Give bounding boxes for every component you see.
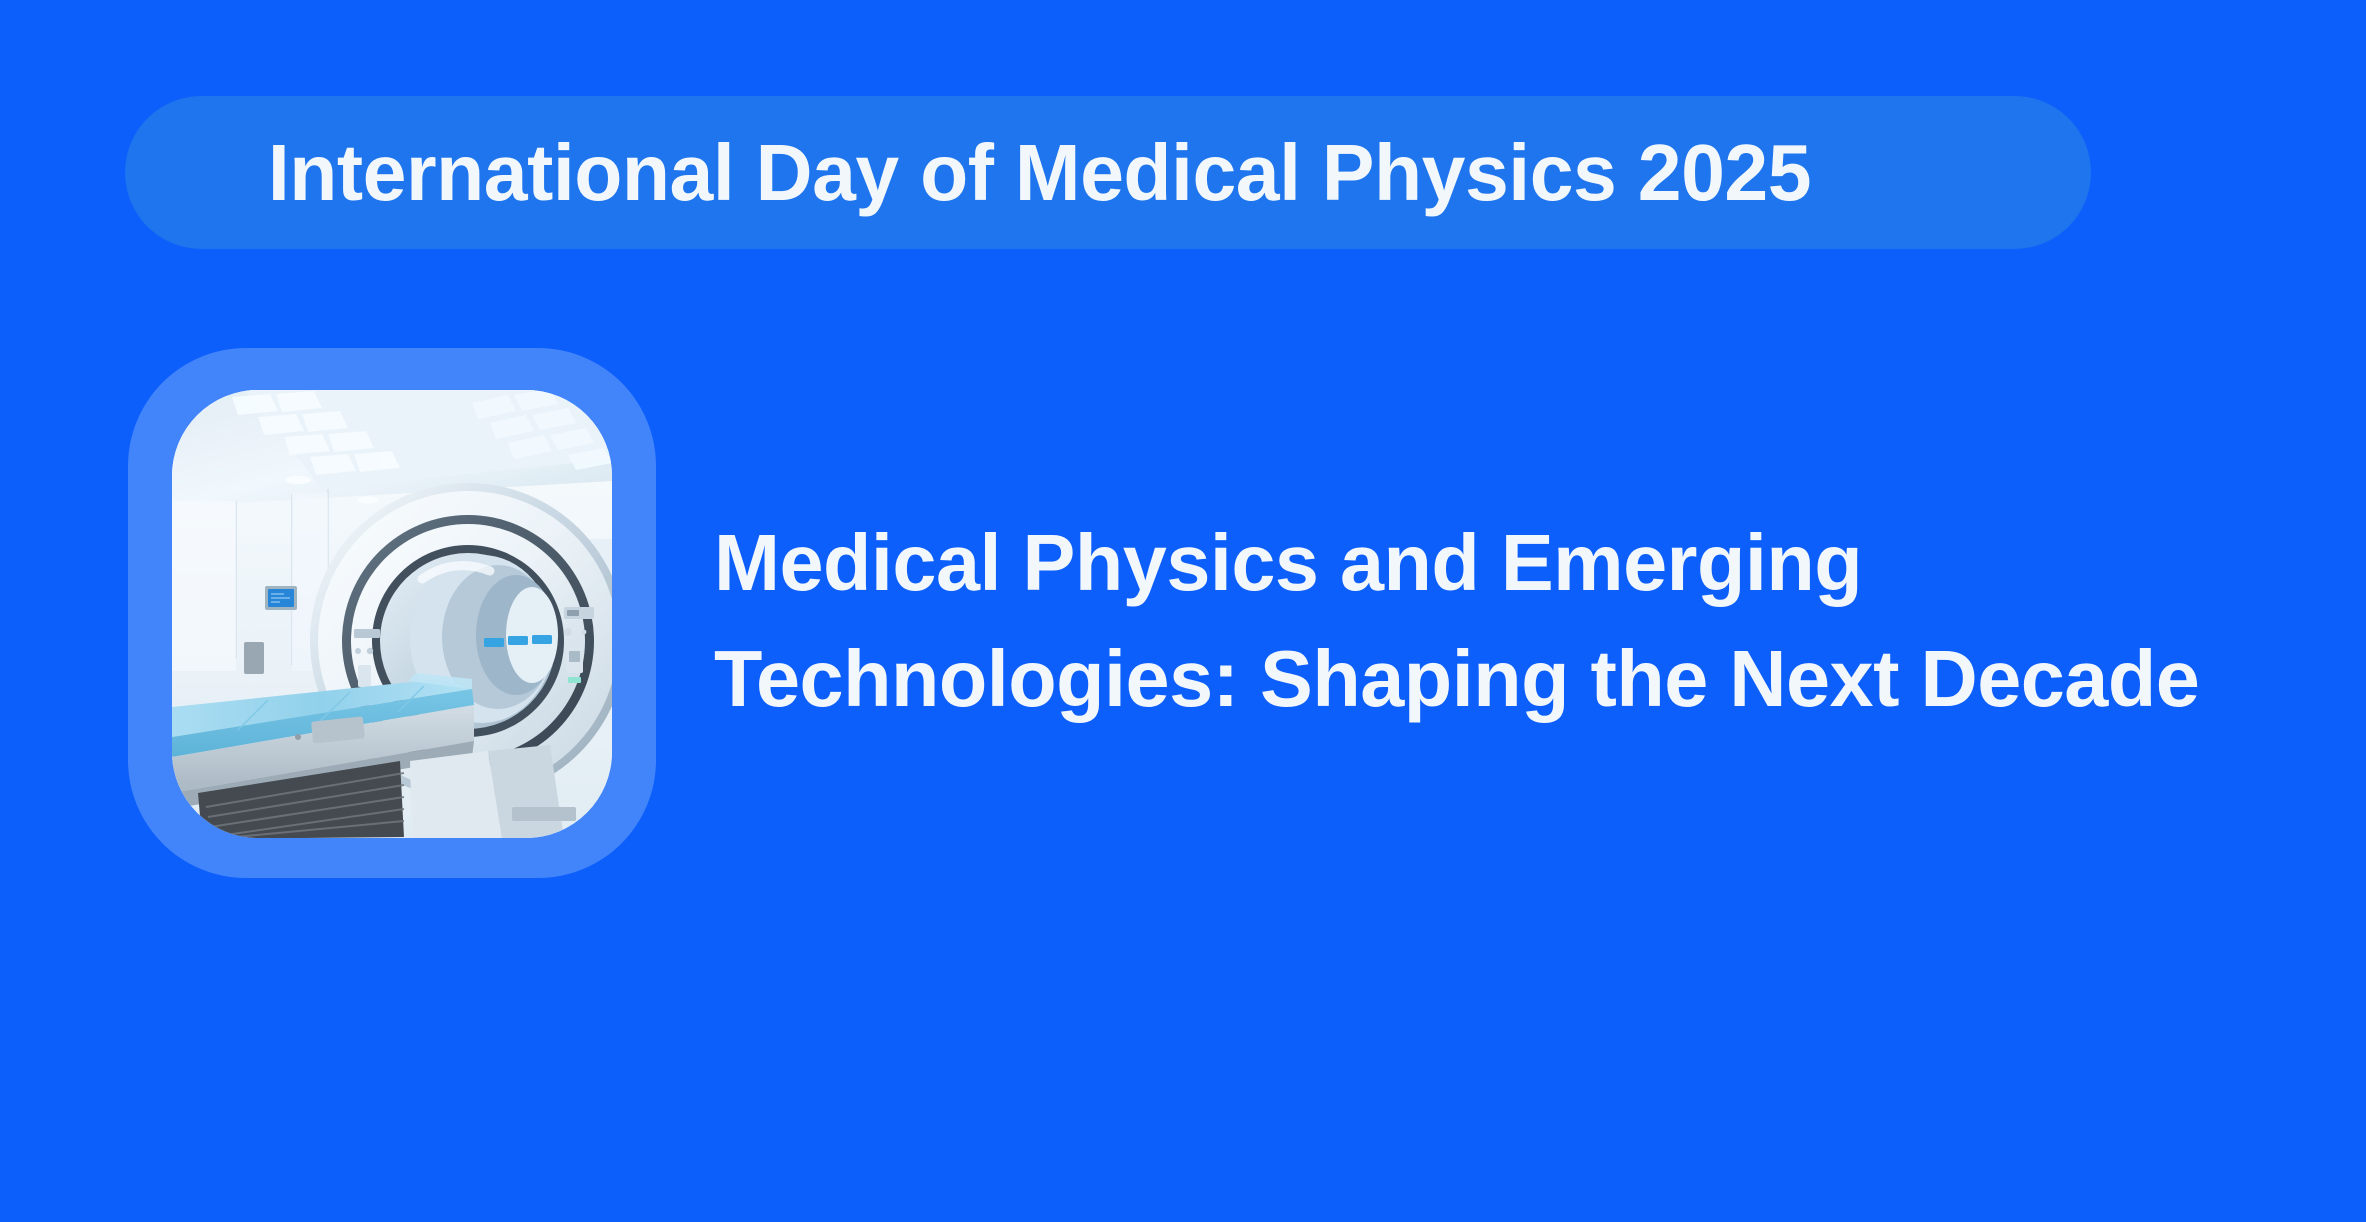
subtitle-line-2: Technologies: Shaping the Next Decade — [714, 621, 2258, 737]
mri-ct-scanner-room-image — [172, 390, 612, 838]
subtitle-line-1: Medical Physics and Emerging — [714, 505, 2258, 621]
page-title: International Day of Medical Physics 202… — [125, 133, 1811, 213]
scanner-image-card — [128, 348, 656, 878]
poster-canvas: International Day of Medical Physics 202… — [0, 0, 2366, 1222]
title-banner: International Day of Medical Physics 202… — [125, 96, 2091, 249]
scanner-illustration — [172, 390, 612, 838]
theme-subtitle: Medical Physics and Emerging Technologie… — [714, 505, 2274, 737]
